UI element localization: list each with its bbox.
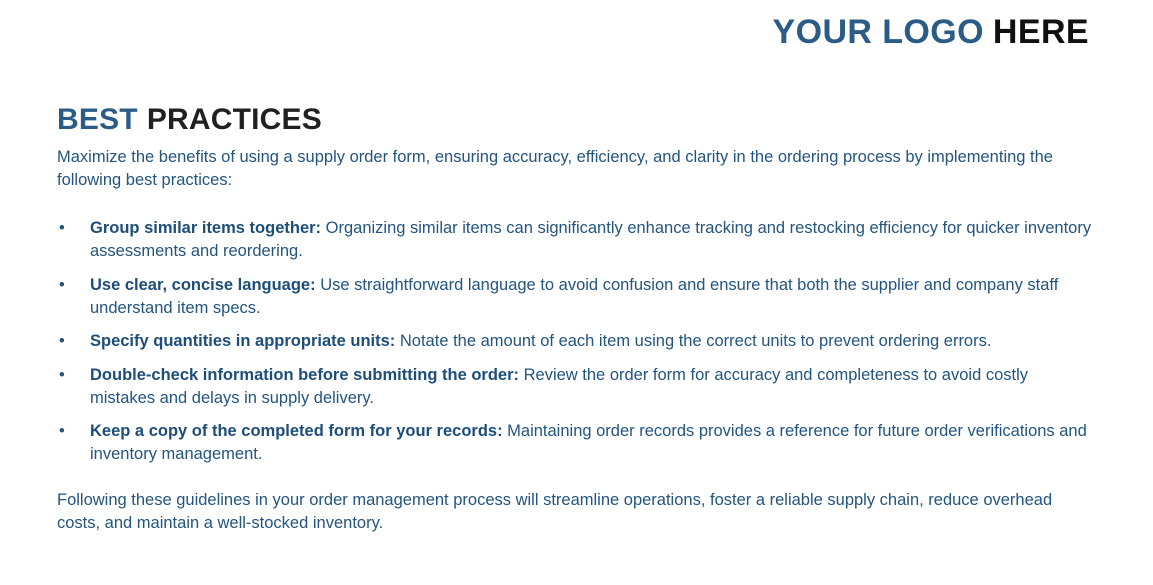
- page-title-rest: PRACTICES: [147, 105, 322, 135]
- content-body: Maximize the benefits of using a supply …: [57, 146, 1092, 535]
- bullet-icon: •: [59, 364, 65, 387]
- closing-paragraph: Following these guidelines in your order…: [57, 489, 1092, 535]
- list-item: • Use clear, concise language: Use strai…: [57, 274, 1092, 320]
- logo-secondary-text: HERE: [993, 15, 1089, 49]
- bullet-icon: •: [59, 420, 65, 443]
- logo-primary-text: YOUR LOGO: [773, 15, 984, 49]
- logo-placeholder: YOUR LOGO HERE: [773, 15, 1089, 49]
- page-title: BEST PRACTICES: [57, 105, 322, 135]
- list-item: • Double-check information before submit…: [57, 364, 1092, 410]
- list-item-lead: Double-check information before submitti…: [90, 366, 519, 384]
- list-item: • Specify quantities in appropriate unit…: [57, 330, 1092, 353]
- bullet-icon: •: [59, 274, 65, 297]
- list-item-lead: Group similar items together:: [90, 219, 321, 237]
- document-page: YOUR LOGO HERE BEST PRACTICES Maximize t…: [0, 0, 1153, 585]
- bullet-icon: •: [59, 330, 65, 353]
- best-practices-list: • Group similar items together: Organizi…: [57, 217, 1092, 466]
- list-item-lead: Use clear, concise language:: [90, 276, 316, 294]
- list-item-lead: Keep a copy of the completed form for yo…: [90, 422, 503, 440]
- list-item-lead: Specify quantities in appropriate units:: [90, 332, 395, 350]
- list-item: • Group similar items together: Organizi…: [57, 217, 1092, 263]
- bullet-icon: •: [59, 217, 65, 240]
- page-title-accent: BEST: [57, 105, 138, 135]
- list-item: • Keep a copy of the completed form for …: [57, 420, 1092, 466]
- list-item-text: Notate the amount of each item using the…: [395, 332, 991, 350]
- intro-paragraph: Maximize the benefits of using a supply …: [57, 146, 1092, 192]
